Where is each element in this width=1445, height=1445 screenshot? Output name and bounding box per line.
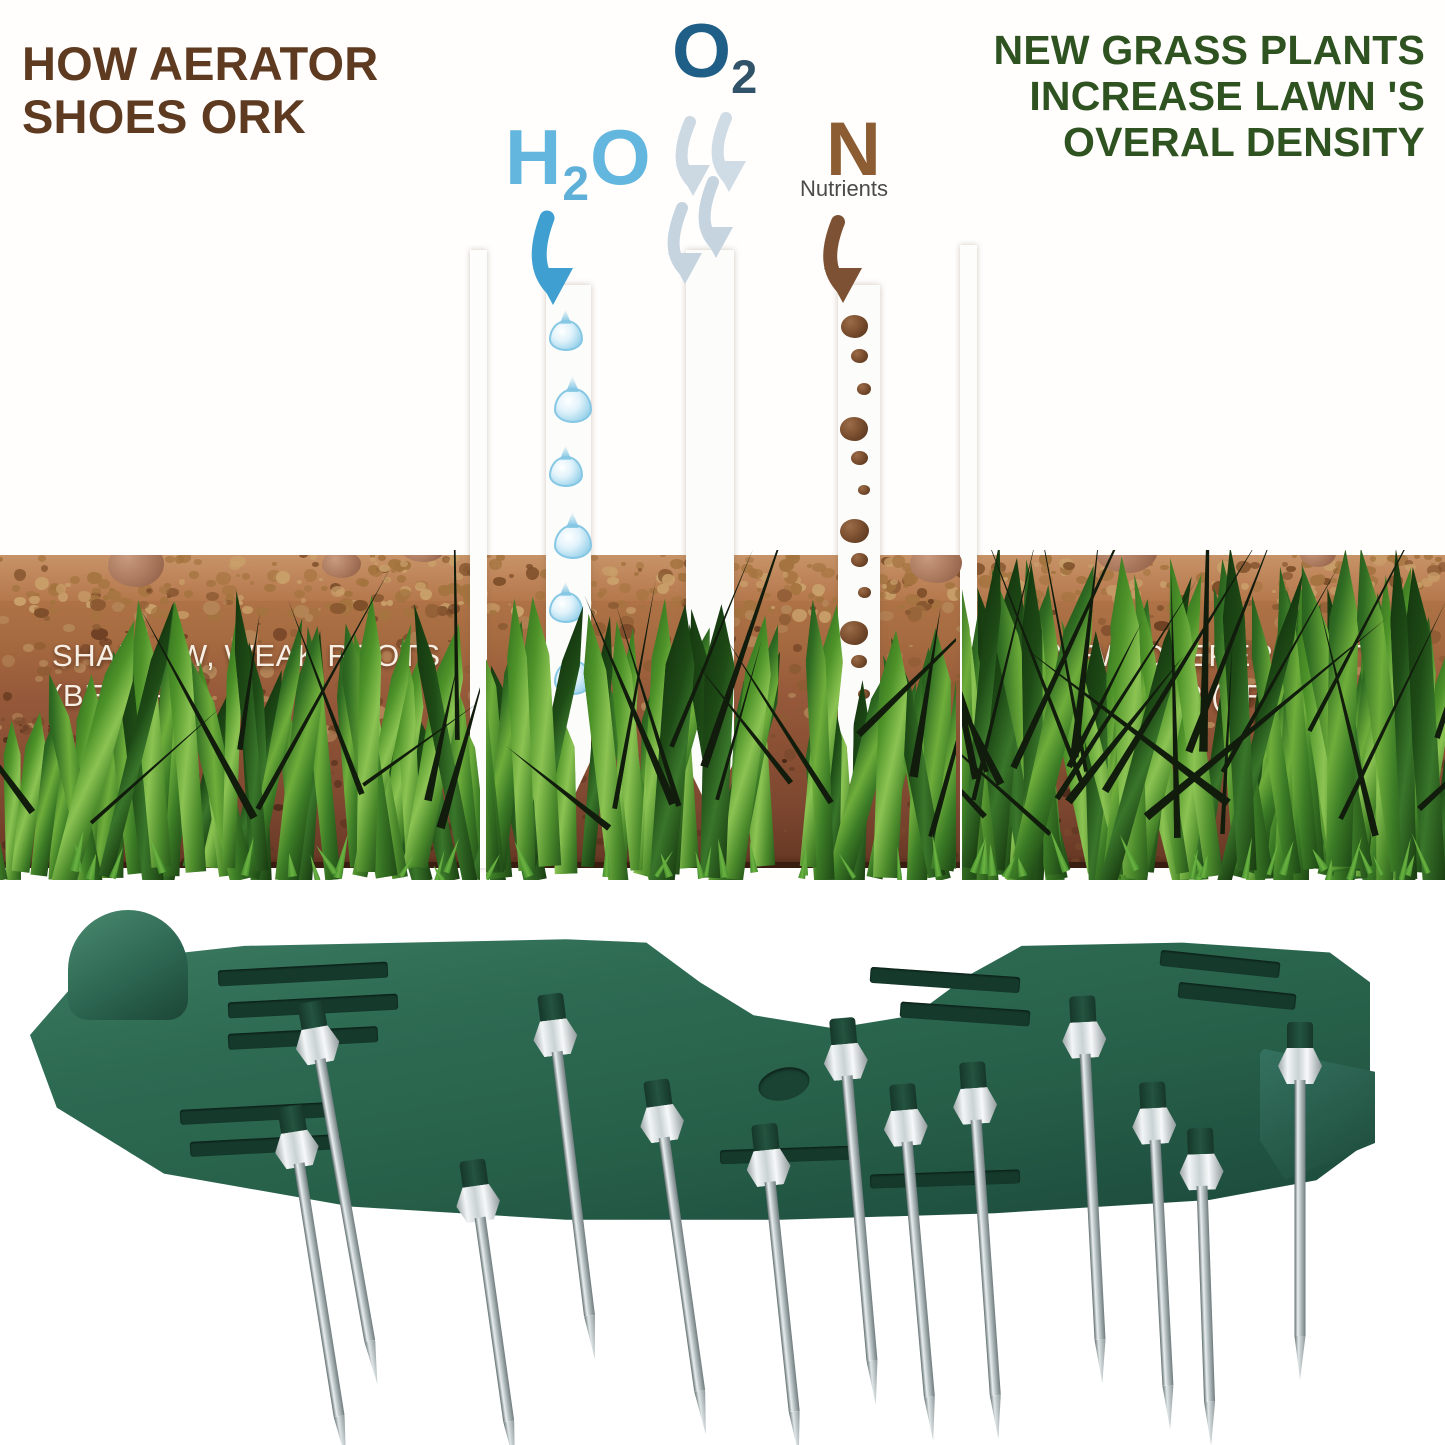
soil-speckle bbox=[770, 734, 776, 738]
label-oxygen: O2 bbox=[672, 8, 757, 104]
nutrient-pellet-icon bbox=[851, 451, 868, 465]
spike-shaft bbox=[842, 1075, 878, 1361]
spike-shaft bbox=[1295, 1080, 1306, 1336]
label-water-tail: O bbox=[590, 113, 652, 201]
soil-crumb bbox=[783, 572, 789, 578]
soil-crumb bbox=[493, 577, 506, 586]
spike-point bbox=[503, 1421, 520, 1445]
grass-band-right bbox=[962, 550, 1445, 880]
soil-crumb bbox=[387, 600, 394, 606]
soil-crumb bbox=[740, 581, 747, 586]
soil-pebble bbox=[788, 693, 796, 698]
oxygen-flow-arrow-icon-1 bbox=[676, 122, 710, 196]
soil-speckle bbox=[784, 749, 796, 761]
soil-crumb bbox=[591, 581, 597, 587]
soil-speckle bbox=[331, 760, 338, 765]
soil-crumb bbox=[489, 610, 497, 615]
soil-pebble bbox=[257, 623, 260, 625]
soil-crumb bbox=[330, 603, 345, 613]
soil-crumb bbox=[310, 555, 317, 560]
soil-crumb bbox=[398, 589, 411, 598]
soil-speckle bbox=[784, 829, 788, 831]
spike-shaft bbox=[1197, 1186, 1216, 1402]
nutrient-pellet-icon bbox=[858, 485, 870, 495]
spike-shaft bbox=[1150, 1140, 1174, 1386]
nutrient-pellet-icon bbox=[841, 315, 868, 338]
soil-crumb bbox=[297, 580, 302, 584]
soil-pebble bbox=[34, 642, 46, 650]
soil-crumb bbox=[301, 598, 306, 603]
spike-shaft bbox=[765, 1181, 800, 1412]
soil-pebble bbox=[907, 607, 922, 622]
soil-crumb bbox=[790, 583, 802, 595]
soil-crumb bbox=[49, 607, 58, 614]
soil-crumb bbox=[50, 600, 56, 605]
soil-pebble bbox=[781, 605, 792, 615]
soil-pebble bbox=[318, 608, 322, 611]
soil-crumb bbox=[276, 571, 290, 584]
aerator-shoe-sole bbox=[30, 910, 1390, 1270]
soil-speckle bbox=[1063, 828, 1072, 836]
soil-pebble bbox=[448, 604, 460, 614]
soil-pebble bbox=[909, 645, 912, 647]
soil-crumb bbox=[206, 580, 215, 588]
water-droplet-icon bbox=[549, 320, 583, 351]
aerator-spike bbox=[1278, 1022, 1322, 1380]
soil-crumb bbox=[509, 574, 514, 578]
soil-crumb bbox=[807, 564, 812, 567]
soil-crumb bbox=[12, 585, 20, 592]
label-water-main: H bbox=[505, 113, 562, 201]
nutrient-pellet-icon bbox=[858, 587, 871, 598]
water-droplet-icon bbox=[549, 456, 583, 487]
nutrient-pellet-icon bbox=[857, 383, 871, 395]
spike-point bbox=[334, 1415, 352, 1445]
label-oxygen-main: O bbox=[672, 9, 731, 94]
soil-pebble bbox=[878, 611, 894, 621]
soil-crumb bbox=[639, 605, 646, 610]
soil-crumb bbox=[230, 556, 246, 567]
spike-nut bbox=[1278, 1048, 1322, 1084]
soil-crumb bbox=[821, 568, 835, 578]
spike-point bbox=[990, 1395, 1004, 1440]
water-droplet-icon bbox=[554, 524, 592, 559]
soil-crumb bbox=[312, 562, 319, 567]
spike-point bbox=[584, 1315, 600, 1360]
soil-crumb bbox=[178, 555, 191, 563]
soil-crumb bbox=[29, 596, 39, 604]
page-title-right: NEW GRASS PLANTS INCREASE LAWN 'S OVERAL… bbox=[994, 28, 1425, 166]
soil-pebble bbox=[23, 644, 34, 653]
soil-crumb bbox=[242, 573, 250, 580]
soil-crumb bbox=[607, 577, 619, 585]
soil-crumb bbox=[331, 586, 345, 597]
soil-crumb bbox=[621, 562, 625, 566]
spike-point bbox=[694, 1390, 711, 1435]
soil-pebble bbox=[39, 660, 48, 667]
soil-crumb bbox=[771, 606, 775, 609]
label-water-sub: 2 bbox=[562, 158, 590, 211]
aerator-diagram: SHALLOW, WEAK ROOTS (BEFORE) NEW, DEEPER… bbox=[0, 0, 1445, 880]
soil-speckle bbox=[789, 767, 795, 771]
soil-crumb bbox=[1435, 557, 1441, 561]
soil-crumb bbox=[272, 562, 277, 566]
nutrient-pellet-icon bbox=[851, 553, 868, 567]
soil-crumb bbox=[216, 572, 230, 585]
spike-point bbox=[1095, 1339, 1108, 1384]
soil-pebble bbox=[448, 614, 453, 617]
soil-pebble bbox=[2, 655, 15, 668]
sole-toe-cap bbox=[68, 910, 188, 1020]
soil-pebble bbox=[0, 616, 9, 623]
soil-crumb bbox=[56, 584, 66, 593]
soil-speckle bbox=[334, 780, 343, 788]
soil-crumb bbox=[206, 592, 219, 601]
soil-pebble bbox=[44, 616, 49, 621]
spike-point bbox=[924, 1396, 939, 1441]
soil-crumb bbox=[304, 585, 312, 591]
soil-crumb bbox=[678, 573, 684, 578]
soil-pebble bbox=[608, 602, 618, 608]
spike-point bbox=[364, 1340, 382, 1385]
spike-collar bbox=[1287, 1022, 1313, 1052]
soil-crumb bbox=[165, 556, 175, 563]
soil-crumb bbox=[78, 591, 91, 603]
soil-pebble bbox=[3, 692, 12, 701]
spike-point bbox=[867, 1360, 882, 1405]
soil-crumb bbox=[90, 599, 106, 611]
soil-crumb bbox=[526, 564, 533, 568]
oxygen-flow-arrow-icon-2 bbox=[712, 118, 746, 192]
nutrient-pellet-icon bbox=[840, 519, 869, 543]
spike-shaft bbox=[902, 1141, 935, 1397]
soil-pebble bbox=[789, 664, 802, 674]
oxygen-flow-arrow-icon-3 bbox=[699, 182, 733, 258]
soil-pebble bbox=[797, 708, 802, 712]
soil-pebble bbox=[942, 602, 954, 613]
soil-pebble bbox=[425, 604, 439, 617]
nutrient-pellet-icon bbox=[840, 417, 868, 441]
label-oxygen-sub: 2 bbox=[731, 50, 757, 103]
soil-crumb bbox=[194, 559, 202, 564]
spike-shaft bbox=[971, 1119, 1001, 1395]
soil-pebble bbox=[793, 644, 802, 652]
soil-crumb bbox=[383, 577, 391, 583]
soil-crumb bbox=[1428, 572, 1440, 581]
soil-pebble bbox=[63, 624, 75, 632]
soil-pebble bbox=[779, 614, 791, 625]
soil-crumb bbox=[626, 607, 636, 614]
nutrient-pellet-icon bbox=[851, 349, 868, 363]
soil-crumb bbox=[898, 605, 905, 610]
soil-crumb bbox=[379, 565, 390, 572]
page-title-left: HOW AERATOR SHOES ORK bbox=[22, 38, 378, 143]
soil-crumb bbox=[619, 583, 630, 593]
soil-crumb bbox=[751, 569, 762, 578]
soil-pebble bbox=[0, 725, 2, 730]
spike-point bbox=[1295, 1336, 1306, 1380]
label-nutrients: Nutrients bbox=[800, 176, 888, 202]
soil-crumb bbox=[91, 610, 102, 620]
soil-crumb bbox=[14, 597, 26, 606]
spike-shaft bbox=[475, 1217, 515, 1423]
soil-crumb bbox=[92, 588, 100, 593]
label-water: H2O bbox=[505, 112, 652, 212]
soil-crumb bbox=[370, 557, 376, 562]
spike-point bbox=[1162, 1385, 1175, 1430]
water-droplet-icon bbox=[554, 388, 592, 423]
soil-crumb bbox=[526, 567, 539, 580]
soil-crumb bbox=[636, 589, 649, 601]
soil-crumb bbox=[35, 577, 49, 590]
page-root: SHALLOW, WEAK ROOTS (BEFORE) NEW, DEEPER… bbox=[0, 0, 1445, 1445]
soil-crumb bbox=[657, 584, 668, 594]
soil-crumb bbox=[397, 575, 406, 583]
spike-point bbox=[789, 1411, 805, 1445]
soil-crumb bbox=[179, 579, 185, 585]
soil-crumb bbox=[98, 579, 110, 588]
spike-point bbox=[1204, 1402, 1217, 1445]
product-photo bbox=[0, 880, 1445, 1445]
soil-crumb bbox=[256, 607, 268, 615]
spike-shaft bbox=[1080, 1054, 1106, 1340]
